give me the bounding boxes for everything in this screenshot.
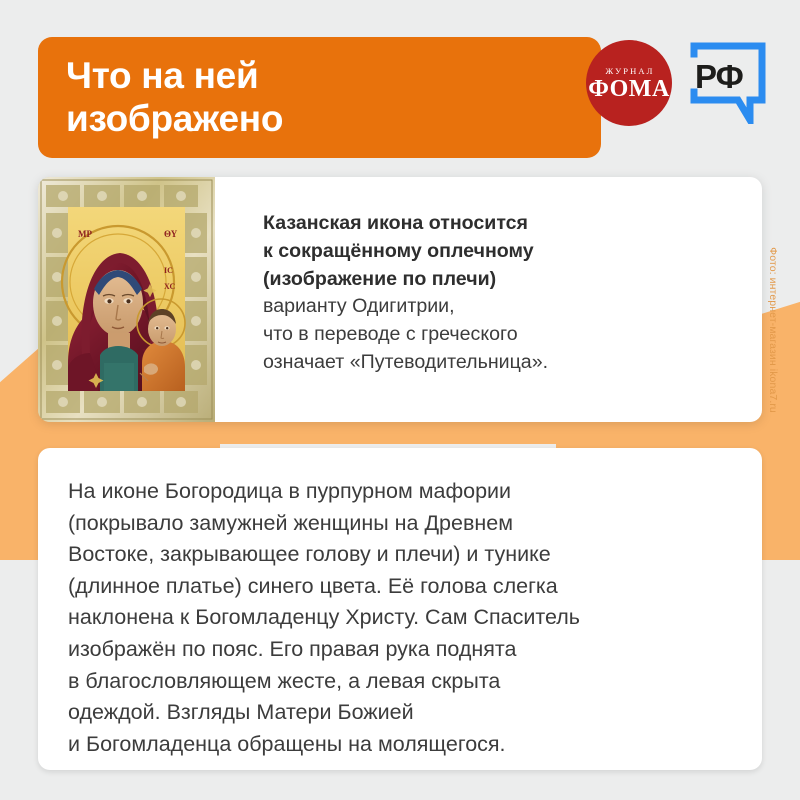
foma-logo-tagline: ЖУРНАЛ	[604, 66, 655, 76]
icon-description-bold: Казанская икона относится к сокращённому…	[263, 212, 534, 290]
logo-group: ЖУРНАЛ ФОМА РФ	[586, 40, 768, 126]
rf-logo: РФ	[688, 42, 768, 124]
icon-description-card: МР ΘΥ ІС ХС	[38, 177, 762, 422]
svg-text:ХС: ХС	[164, 282, 175, 291]
foma-journal-logo: ЖУРНАЛ ФОМА	[586, 40, 672, 126]
icon-details-card: На иконе Богородица в пурпурном мафории …	[38, 448, 762, 770]
icon-description-text: Казанская икона относится к сокращённому…	[263, 210, 732, 377]
foma-logo-wordmark: ФОМА	[588, 77, 670, 101]
icon-details-text: На иконе Богородица в пурпурном мафории …	[68, 476, 734, 760]
rf-logo-wordmark: РФ	[695, 60, 743, 93]
icon-description-body: Казанская икона относится к сокращённому…	[215, 177, 762, 422]
page-title: Что на ней изображено	[38, 55, 283, 141]
photo-credit: Фото: интернет-магазин ikona7.ru	[772, 330, 786, 510]
svg-text:ΘΥ: ΘΥ	[164, 229, 178, 239]
header-bar: Что на ней изображено	[38, 37, 601, 158]
icon-description-regular: варианту Одигитрии, что в переводе с гре…	[263, 295, 548, 373]
kazan-icon-photo: МР ΘΥ ІС ХС	[38, 177, 215, 422]
photo-credit-text: Фото: интернет-магазин ikona7.ru	[767, 247, 779, 413]
svg-text:ІС: ІС	[164, 266, 173, 275]
kazan-icon-illustration: МР ΘΥ ІС ХС	[38, 177, 215, 422]
svg-text:МР: МР	[78, 229, 92, 239]
